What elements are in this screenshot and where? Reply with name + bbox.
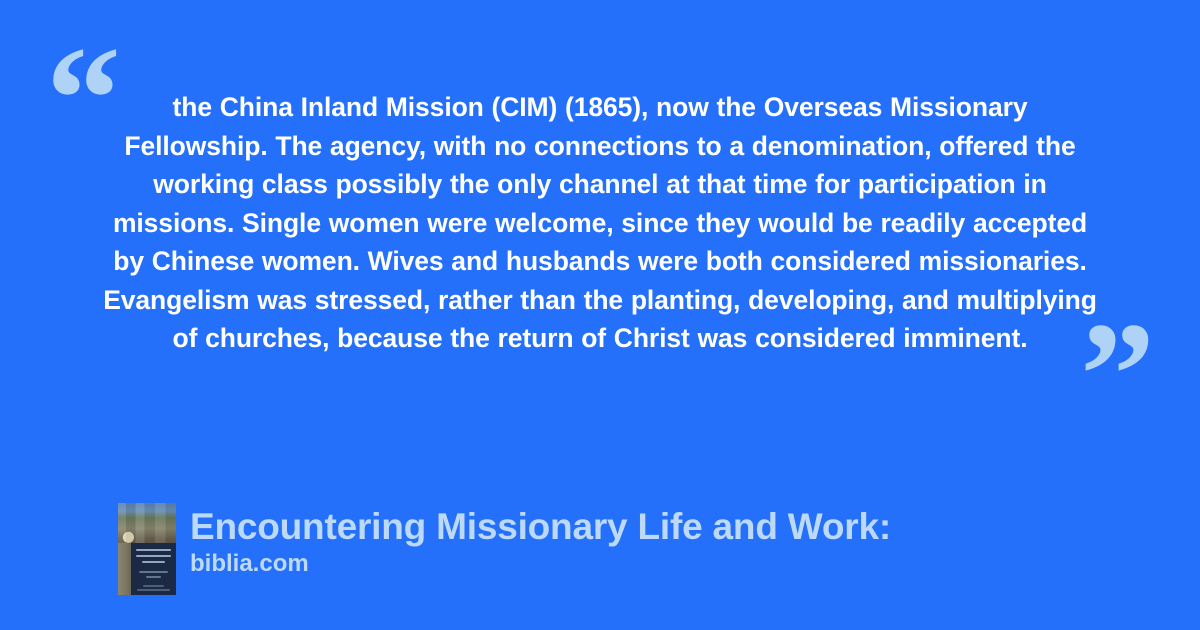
quote-text: the China Inland Mission (CIM) (1865), n… bbox=[100, 88, 1100, 358]
quote-block: the China Inland Mission (CIM) (1865), n… bbox=[100, 88, 1100, 358]
cover-subtitle-line-1 bbox=[139, 571, 168, 573]
book-title: Encountering Missionary Life and Work: bbox=[190, 505, 891, 549]
book-cover-photo bbox=[118, 503, 176, 547]
quote-card: “ ” the China Inland Mission (CIM) (1865… bbox=[0, 0, 1200, 630]
cover-title-line-1 bbox=[136, 549, 171, 551]
cover-subtitle-line-2 bbox=[146, 576, 161, 578]
footer-text-block: Encountering Missionary Life and Work: b… bbox=[190, 503, 891, 579]
book-cover-spine bbox=[118, 543, 131, 595]
cover-author-line-1 bbox=[143, 585, 164, 587]
book-cover-lower-panel bbox=[131, 543, 176, 595]
cover-author-line-2 bbox=[137, 589, 170, 591]
cover-title-line-3 bbox=[142, 561, 165, 563]
footer: Encountering Missionary Life and Work: b… bbox=[118, 503, 891, 595]
book-cover-thumbnail bbox=[118, 503, 176, 595]
cover-title-line-2 bbox=[136, 555, 171, 557]
site-name: biblia.com bbox=[190, 549, 891, 579]
